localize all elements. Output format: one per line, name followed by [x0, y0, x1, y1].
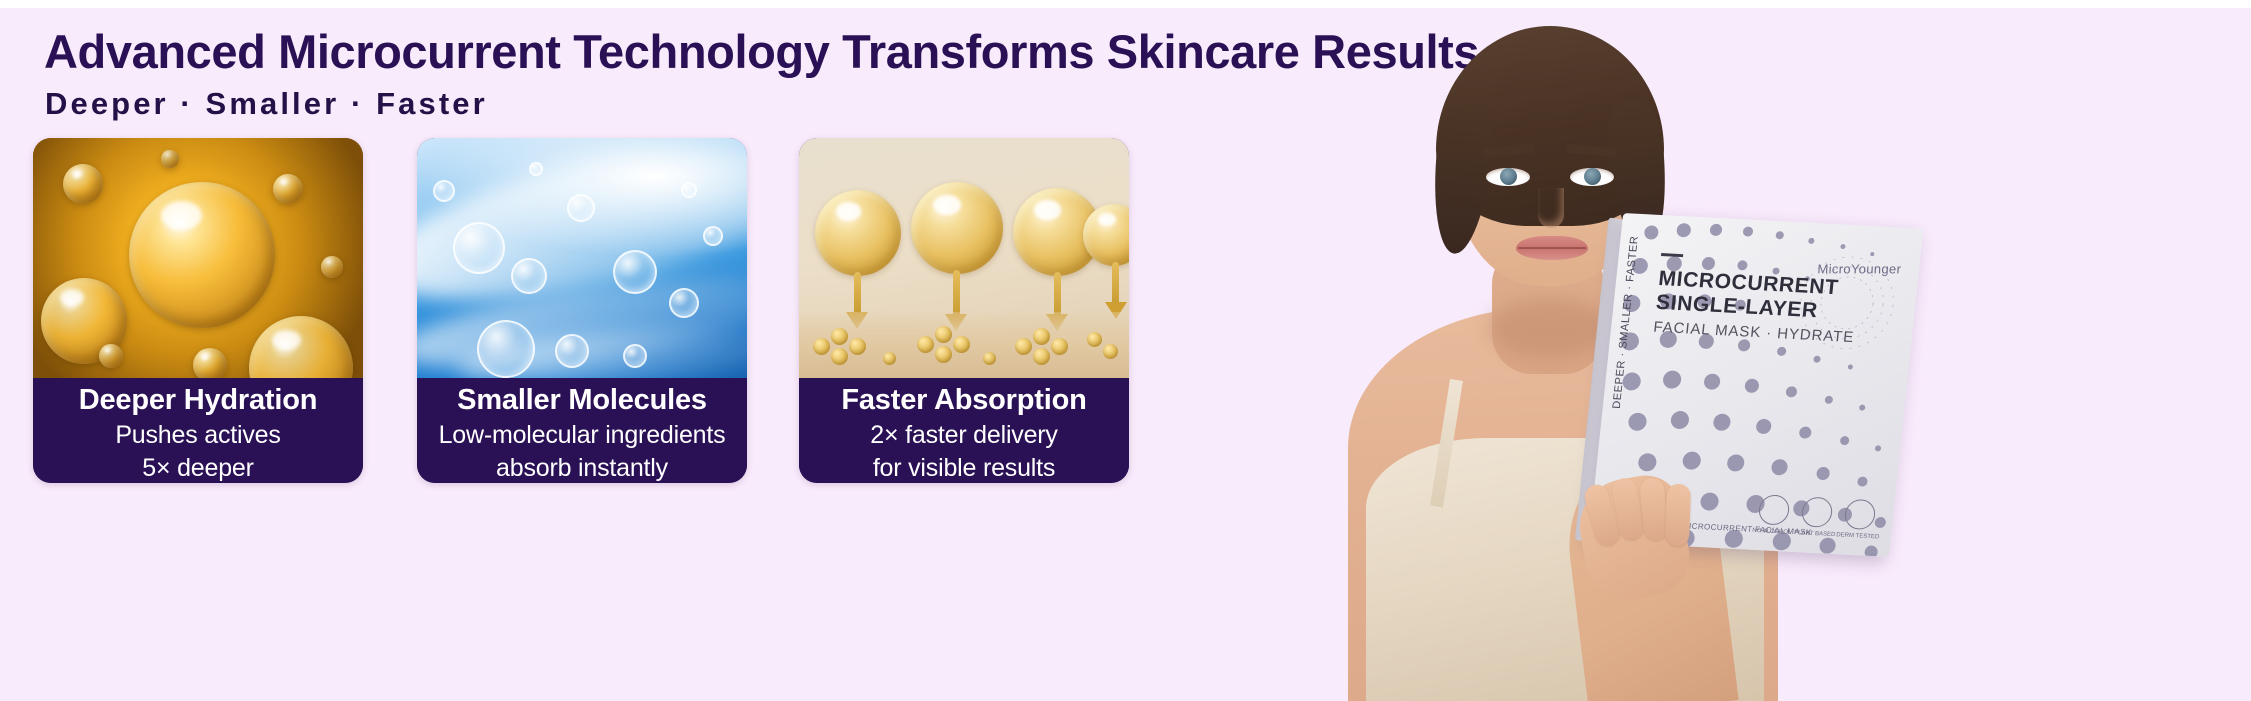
model-figure: MicroYounger MICROCURRENT SINGLE-LAYER F… [1274, 8, 1834, 701]
feature-card-faster-absorption[interactable]: Faster Absorption 2× faster delivery for… [799, 138, 1129, 483]
neck-shadow [1488, 298, 1612, 358]
package-title: MICROCURRENT SINGLE-LAYER [1655, 267, 1840, 324]
golden-oil-background [33, 138, 363, 378]
molecule-dot [953, 336, 970, 353]
feature-card-list: Deeper Hydration Pushes actives 5× deepe… [33, 138, 1133, 488]
card-line-1: Low-molecular ingredients [417, 419, 747, 452]
feature-card-smaller-molecules[interactable]: Smaller Molecules Low-molecular ingredie… [417, 138, 747, 483]
droplet-tail [854, 272, 861, 316]
oil-bubble-icon [161, 150, 179, 168]
oil-bubble-icon [273, 174, 303, 204]
oil-bubble-icon [193, 348, 227, 378]
water-bubble-icon [529, 162, 543, 176]
iris-left [1500, 168, 1517, 185]
droplet-tail [1112, 262, 1119, 306]
amber-sphere-icon [911, 182, 1003, 274]
water-bubble-icon [511, 258, 547, 294]
finger [1665, 484, 1691, 547]
oil-bubble-icon [99, 344, 123, 368]
card-line-2: absorb instantly [417, 452, 747, 483]
card-caption: Faster Absorption 2× faster delivery for… [799, 378, 1129, 483]
skin-layer [799, 312, 1129, 378]
banner-stage: Advanced Microcurrent Technology Transfo… [0, 8, 2251, 701]
water-bubble-icon [703, 226, 723, 246]
water-bubble-icon [613, 250, 657, 294]
amber-background [799, 138, 1129, 378]
badge-plant-based-icon: PLANT BASED [1800, 496, 1833, 527]
lip-line [1518, 247, 1586, 249]
molecule-dot [831, 328, 848, 345]
molecule-dot [1033, 328, 1050, 345]
water-bubble-icon [555, 334, 589, 368]
card-image-blue-water-bubbles [417, 138, 747, 378]
amber-sphere-icon [815, 190, 901, 276]
molecule-dot [1015, 338, 1032, 355]
brand-logo: MicroYounger [1817, 261, 1901, 276]
oil-bubble-icon [129, 182, 275, 328]
card-caption: Smaller Molecules Low-molecular ingredie… [417, 378, 747, 483]
water-bubble-icon [433, 180, 455, 202]
molecule-dot [983, 352, 996, 365]
water-bubble-icon [669, 288, 699, 318]
water-bubble-icon [623, 344, 647, 368]
card-line-2: for visible results [799, 452, 1129, 483]
water-bubble-icon [453, 222, 505, 274]
oil-bubble-icon [321, 256, 343, 278]
water-bubble-icon [477, 320, 535, 378]
water-bubble-icon [567, 194, 595, 222]
card-title: Smaller Molecules [417, 382, 747, 419]
molecule-dot [883, 352, 896, 365]
card-caption: Deeper Hydration Pushes actives 5× deepe… [33, 378, 363, 483]
water-bubble-icon [681, 182, 697, 198]
molecule-dot [1033, 348, 1050, 365]
molecule-dot [935, 326, 952, 343]
model-photo: MicroYounger MICROCURRENT SINGLE-LAYER F… [1130, 8, 2251, 701]
badge-no-alcohol-icon: NO ALCOHOL [1757, 494, 1790, 525]
card-line-2: 5× deeper [33, 452, 363, 483]
card-title: Deeper Hydration [33, 382, 363, 419]
card-line-1: Pushes actives [33, 419, 363, 452]
molecule-dot [1087, 332, 1102, 347]
water-background [417, 138, 747, 378]
droplet-tail [953, 270, 960, 318]
molecule-dot [1103, 344, 1118, 359]
oil-bubble-icon [63, 164, 103, 204]
subheadline: Deeper · Smaller · Faster [45, 86, 488, 122]
molecule-dot [917, 336, 934, 353]
iris-right [1584, 168, 1601, 185]
card-image-golden-oil-bubbles [33, 138, 363, 378]
molecule-dot [831, 348, 848, 365]
molecule-dot [935, 346, 952, 363]
badge-derm-tested-icon: DERM TESTED [1843, 499, 1876, 530]
card-image-amber-spheres [799, 138, 1129, 378]
nose [1538, 188, 1564, 228]
molecule-dot [1051, 338, 1068, 355]
promo-banner: Advanced Microcurrent Technology Transfo… [0, 0, 2251, 701]
oil-bubble-icon [249, 316, 353, 378]
certification-badges: NO ALCOHOL PLANT BASED DERM TESTED [1757, 494, 1876, 530]
molecule-dot [849, 338, 866, 355]
card-title: Faster Absorption [799, 382, 1129, 419]
card-line-1: 2× faster delivery [799, 419, 1129, 452]
molecule-dot [813, 338, 830, 355]
feature-card-deeper-hydration[interactable]: Deeper Hydration Pushes actives 5× deepe… [33, 138, 363, 483]
